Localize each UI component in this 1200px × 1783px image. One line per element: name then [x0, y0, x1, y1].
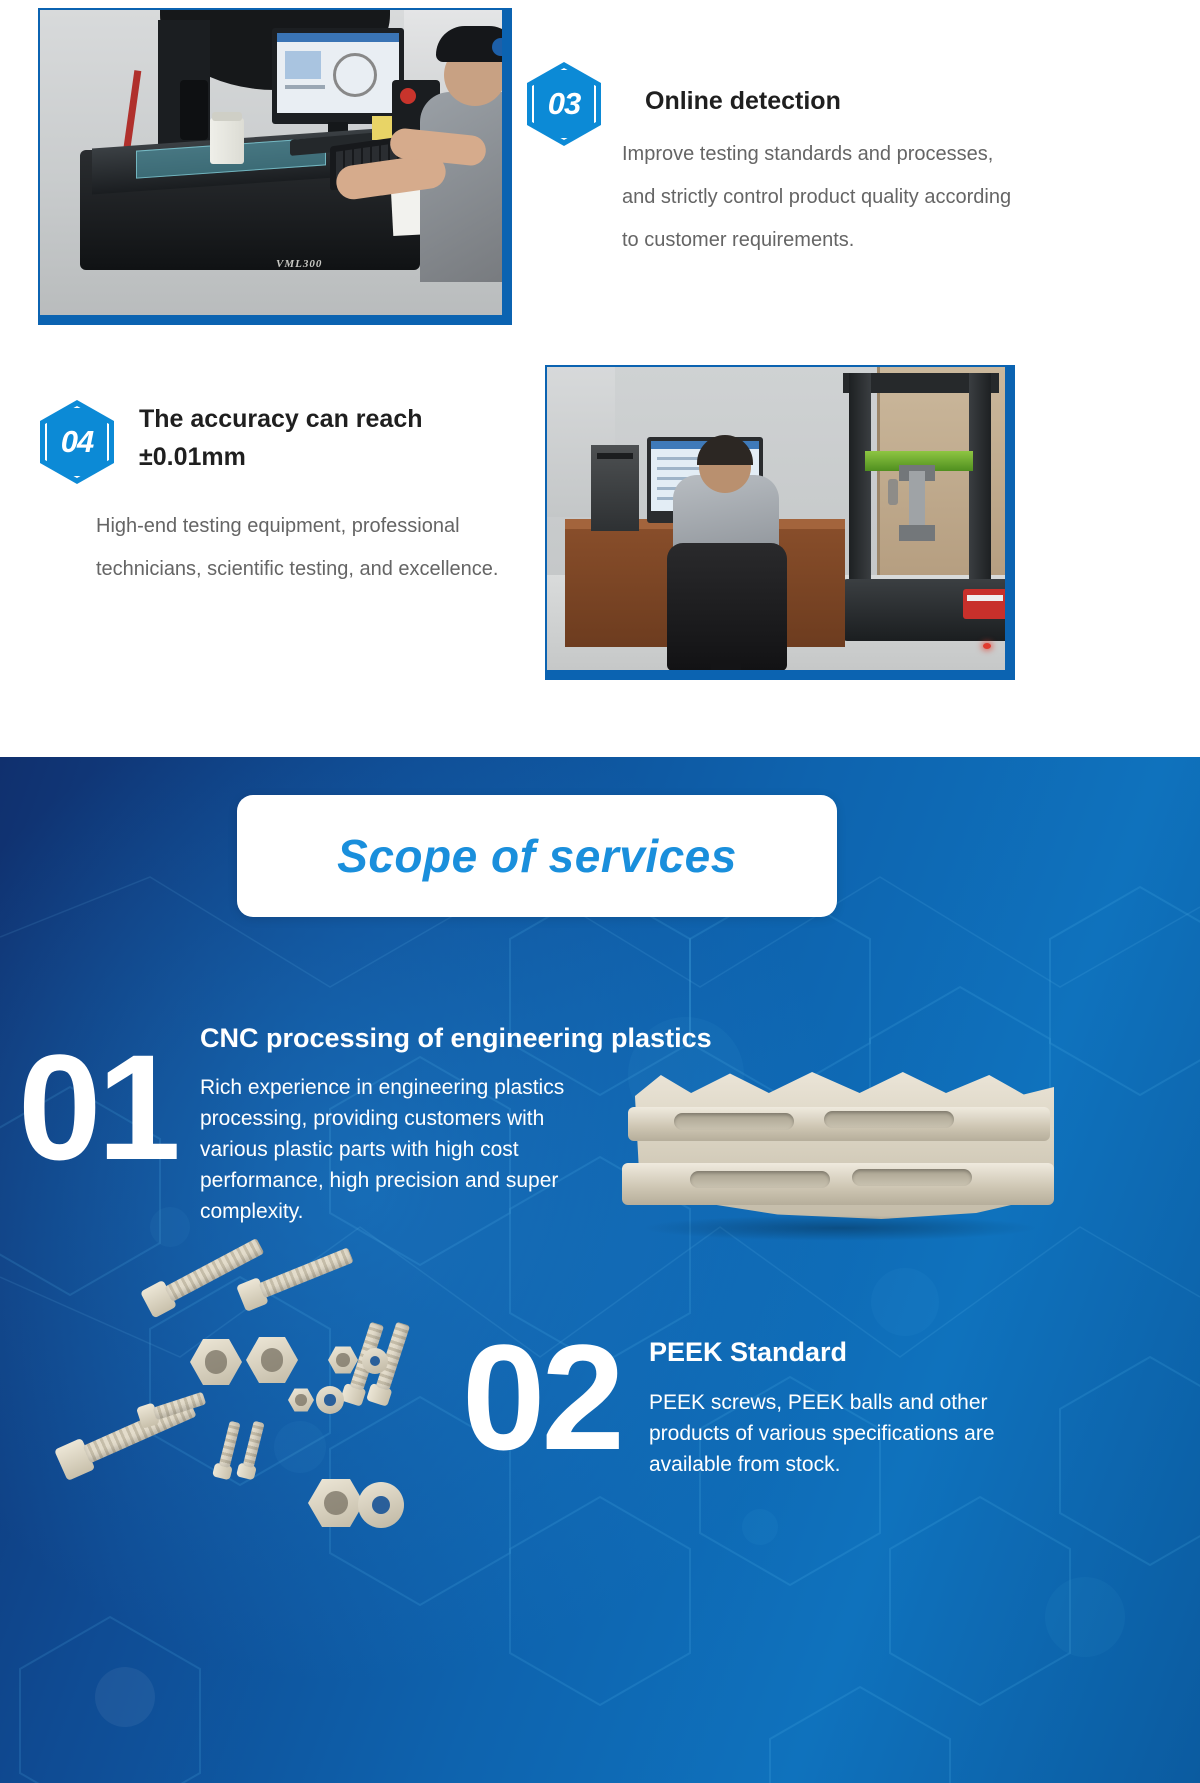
hexagon-badge-04: 04	[40, 400, 114, 484]
top-features-section: VML300 03 Online detection Improve testi…	[0, 0, 1200, 855]
feature-title-online-detection: Online detection	[645, 82, 1025, 120]
decorative-bubble	[95, 1667, 155, 1727]
peek-machined-part-image	[612, 1043, 1064, 1258]
feature-title-accuracy: The accuracy can reach ±0.01mm	[139, 400, 499, 476]
badge-number-03: 03	[527, 62, 601, 146]
measuring-machine-photo: VML300	[40, 10, 502, 315]
service-body-peek-standard: PEEK screws, PEEK balls and other produc…	[649, 1387, 1029, 1480]
service-number-01: 01	[18, 1032, 177, 1182]
photo-online-detection: VML300	[38, 8, 512, 325]
badge-number-04: 04	[40, 400, 114, 484]
service-body-cnc-processing: Rich experience in engineering plastics …	[200, 1072, 610, 1227]
feature-body-online-detection: Improve testing standards and processes,…	[622, 133, 1022, 262]
service-number-02: 02	[462, 1322, 621, 1472]
scope-of-services-card: Scope of services	[237, 795, 837, 917]
hexagon-badge-03: 03	[527, 62, 601, 146]
service-title-peek-standard: PEEK Standard	[649, 1335, 1069, 1369]
peek-screws-image	[40, 1280, 460, 1590]
photo-testing-lab	[545, 365, 1015, 680]
tensile-tester-photo	[547, 367, 1005, 670]
feature-body-accuracy: High-end testing equipment, professional…	[96, 505, 526, 591]
machine-model-label: VML300	[276, 258, 322, 270]
scope-of-services-title: Scope of services	[337, 829, 737, 883]
